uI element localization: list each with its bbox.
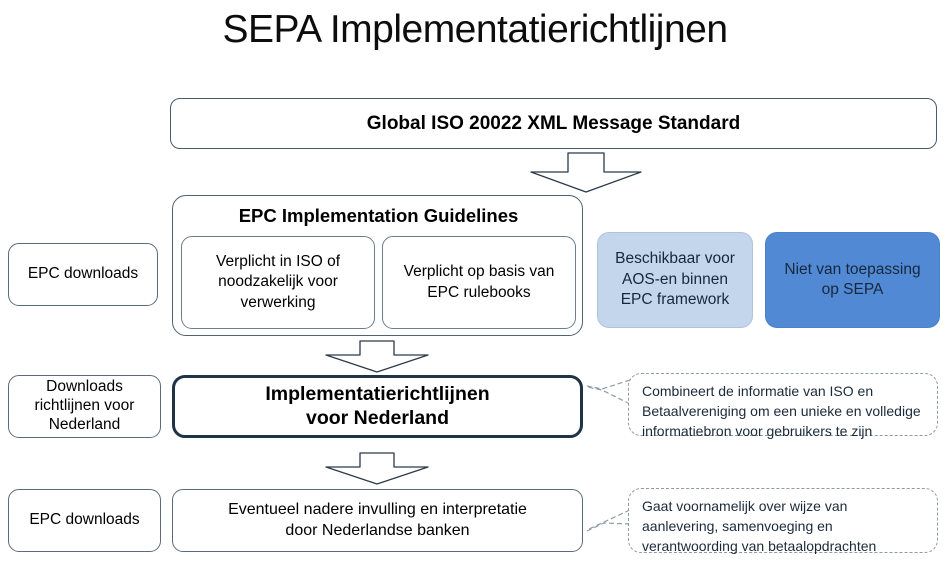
line-1: Gaat voornamelijk over wijze van — [642, 496, 925, 516]
line-2: op SEPA — [822, 281, 884, 298]
line-2: aanlevering, samenvoeging en — [642, 516, 925, 536]
callout-leader-icon-2 — [586, 508, 632, 542]
node-global-iso-standard[interactable]: Global ISO 20022 XML Message Standard — [170, 98, 937, 149]
node-epc-sub-verplicht-iso-label: Verplicht in ISO of noodzakelijk voor ve… — [210, 252, 346, 312]
node-aos-framework-label: Beschikbaar voor AOS-en binnen EPC frame… — [615, 249, 735, 310]
line-3: Nederland — [49, 416, 121, 433]
node-epc-sub-verplicht-iso[interactable]: Verplicht in ISO of noodzakelijk voor ve… — [181, 236, 375, 329]
node-aos-framework[interactable]: Beschikbaar voor AOS-en binnen EPC frame… — [597, 232, 753, 328]
node-nederlandse-banken-label: Eventueel nadere invulling en interpreta… — [222, 500, 533, 542]
node-implementatierichtlijnen-nederland[interactable]: Implementatierichtlijnen voor Nederland — [172, 375, 583, 438]
page-title: SEPA Implementatierichtlijnen — [0, 8, 950, 52]
node-global-iso-standard-label: Global ISO 20022 XML Message Standard — [361, 112, 746, 135]
line-1: Niet van toepassing — [784, 261, 920, 278]
line-2: EPC rulebooks — [427, 284, 530, 301]
down-arrow-icon-1 — [528, 152, 644, 194]
line-2: voor Nederland — [306, 407, 449, 429]
line-2: AOS-en binnen — [622, 271, 728, 288]
line-3: verantwoording van betaalopdrachten — [642, 536, 925, 556]
line-1: Implementatierichtlijnen — [265, 383, 489, 405]
node-nl-downloads-label: Downloads richtlijnen voor Nederland — [29, 378, 141, 435]
node-nl-downloads[interactable]: Downloads richtlijnen voor Nederland — [8, 375, 161, 438]
callout-banks-note: Gaat voornamelijk over wijze van aanleve… — [628, 488, 938, 553]
node-epc-group-title: EPC Implementation Guidelines — [173, 205, 584, 228]
line-2: noodzakelijk voor — [218, 273, 338, 290]
node-implementatierichtlijnen-nederland-label: Implementatierichtlijnen voor Nederland — [259, 383, 495, 431]
callout-leader-icon-1 — [586, 378, 632, 410]
node-niet-van-toepassing[interactable]: Niet van toepassing op SEPA — [765, 232, 940, 328]
node-epc-sub-verplicht-rulebooks[interactable]: Verplicht op basis van EPC rulebooks — [382, 236, 576, 329]
down-arrow-icon-3 — [323, 452, 431, 486]
node-epc-implementation-guidelines[interactable]: EPC Implementation Guidelines Verplicht … — [172, 195, 583, 336]
down-arrow-icon-2 — [323, 340, 431, 374]
node-epc-downloads-top-label: EPC downloads — [22, 265, 144, 284]
node-nederlandse-banken[interactable]: Eventueel nadere invulling en interpreta… — [172, 489, 583, 552]
line-1: Verplicht in ISO of — [216, 253, 340, 270]
callout-main-note: Combineert de informatie van ISO en Beta… — [628, 373, 938, 436]
line-1: Verplicht op basis van — [404, 263, 555, 280]
line-1: Downloads — [46, 378, 123, 395]
line-3: informatiebron voor gebruikers te zijn — [642, 421, 925, 441]
node-epc-downloads-top[interactable]: EPC downloads — [8, 243, 158, 306]
line-1: Combineert de informatie van ISO en — [642, 381, 925, 401]
line-2: Betaalvereniging om een unieke en volled… — [642, 401, 925, 421]
node-epc-downloads-bottom[interactable]: EPC downloads — [8, 489, 161, 552]
node-epc-downloads-bottom-label: EPC downloads — [23, 511, 145, 530]
line-3: EPC framework — [621, 291, 730, 308]
line-1: Eventueel nadere invulling en interpreta… — [228, 501, 527, 518]
line-2: richtlijnen voor — [35, 397, 135, 414]
line-3: verwerking — [241, 294, 316, 311]
line-1: Beschikbaar voor — [615, 250, 735, 267]
node-epc-sub-verplicht-rulebooks-label: Verplicht op basis van EPC rulebooks — [398, 262, 561, 302]
line-2: door Nederlandse banken — [285, 522, 469, 539]
node-niet-van-toepassing-label: Niet van toepassing op SEPA — [784, 260, 920, 301]
diagram-canvas: SEPA Implementatierichtlijnen Global ISO… — [0, 0, 950, 578]
